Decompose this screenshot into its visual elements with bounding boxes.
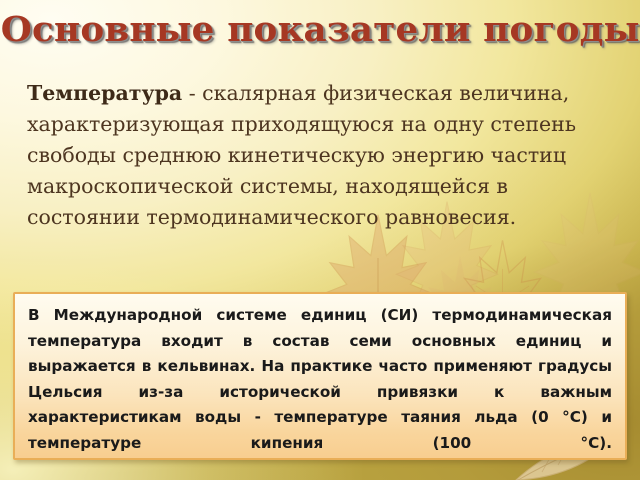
callout-text: В Международной системе единиц (СИ) терм… <box>28 303 612 480</box>
definition-term: Температура <box>27 81 182 105</box>
page-title: Основные показатели погоды <box>1 8 640 52</box>
definition-paragraph: Температура - скалярная физическая велич… <box>27 78 617 233</box>
callout-box: В Международной системе единиц (СИ) терм… <box>13 292 627 460</box>
slide-canvas: Основные показатели погоды Температура -… <box>0 0 640 480</box>
slide-title-container: Основные показатели погоды <box>0 8 640 52</box>
